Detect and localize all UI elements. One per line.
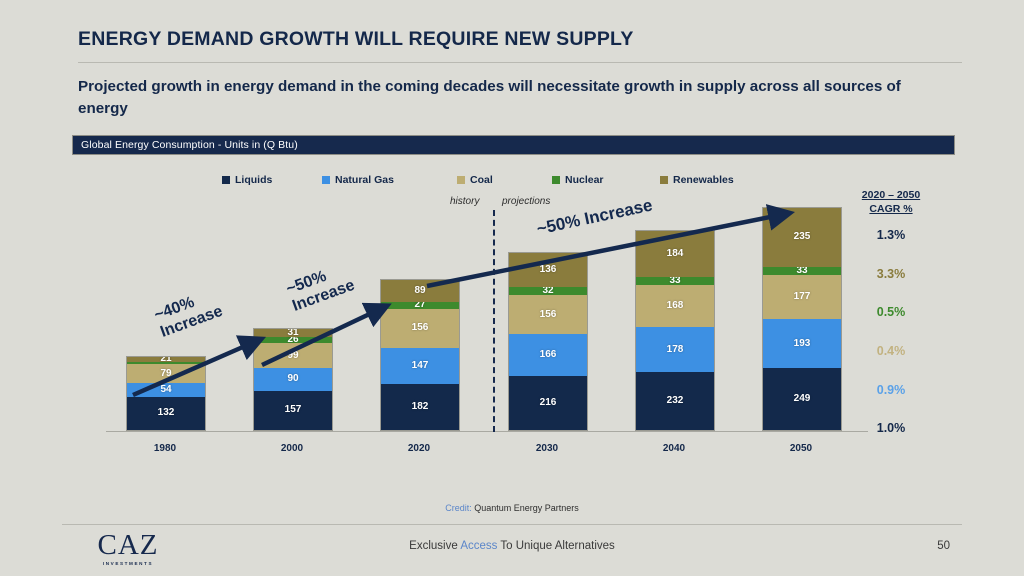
bar-value-label: 33 [796, 267, 807, 275]
bar-value-label: 132 [158, 408, 175, 418]
bar-segment-2050-natural-gas[interactable]: 193 [763, 319, 841, 367]
bar-value-label: 157 [285, 405, 302, 415]
x-axis-label-2030: 2030 [508, 443, 586, 454]
cagr-header-line2: CAGR % [869, 203, 912, 215]
chart-banner-label: Global Energy Consumption - Units in (Q … [81, 139, 298, 151]
bar-segment-2030-natural-gas[interactable]: 166 [509, 334, 587, 376]
legend-swatch-icon [222, 176, 230, 184]
bar-segment-2030-coal[interactable]: 156 [509, 295, 587, 334]
logo-subtext: INVESTMENTS [80, 561, 176, 566]
bar-segment-2050-coal[interactable]: 177 [763, 275, 841, 319]
bar-2040[interactable]: 18433168178232 [635, 230, 715, 431]
page-title: ENERGY DEMAND GROWTH WILL REQUIRE NEW SU… [78, 28, 634, 51]
bar-2050[interactable]: 23533177193249 [762, 207, 842, 431]
bar-value-label: 136 [540, 265, 557, 275]
x-axis-label-2040: 2040 [635, 443, 713, 454]
bar-2000[interactable]: 31269990157 [253, 328, 333, 431]
cagr-value-liquids: 1.0% [845, 421, 937, 435]
bar-value-label: 32 [542, 287, 553, 295]
x-axis-line [106, 431, 868, 432]
slide-root: ENERGY DEMAND GROWTH WILL REQUIRE NEW SU… [0, 0, 1024, 576]
bar-2030[interactable]: 13632156166216 [508, 252, 588, 431]
bar-segment-2050-nuclear[interactable]: 33 [763, 267, 841, 275]
bar-segment-2020-coal[interactable]: 156 [381, 309, 459, 348]
tagline-part-a: Exclusive [409, 540, 460, 552]
title-divider [78, 62, 962, 63]
bar-value-label: 168 [667, 301, 684, 311]
tagline-part-c: To Unique Alternatives [497, 540, 614, 552]
bar-segment-2040-nuclear[interactable]: 33 [636, 277, 714, 285]
legend-label: Natural Gas [335, 174, 394, 186]
bar-value-label: 147 [412, 361, 429, 371]
credit-prefix: Credit: [445, 503, 472, 513]
bar-value-label: 166 [540, 350, 557, 360]
legend-label: Nuclear [565, 174, 604, 186]
bar-segment-1980-natural-gas[interactable]: 54 [127, 383, 205, 397]
bar-value-label: 193 [794, 339, 811, 349]
chart-banner: Global Energy Consumption - Units in (Q … [72, 135, 955, 155]
bar-value-label: 31 [287, 329, 298, 337]
bar-segment-2020-renewables[interactable]: 89 [381, 280, 459, 302]
bar-value-label: 156 [540, 310, 557, 320]
chart-legend: LiquidsNatural GasCoalNuclearRenewables [222, 174, 782, 190]
cagr-value-renewables2: 3.3% [845, 267, 937, 281]
legend-swatch-icon [660, 176, 668, 184]
legend-swatch-icon [457, 176, 465, 184]
footer-divider [62, 524, 962, 525]
bar-segment-2040-renewables[interactable]: 184 [636, 231, 714, 277]
bar-segment-2030-liquids[interactable]: 216 [509, 376, 587, 430]
bar-segment-2000-liquids[interactable]: 157 [254, 391, 332, 430]
x-axis-label-1980: 1980 [126, 443, 204, 454]
legend-label: Renewables [673, 174, 734, 186]
bar-value-label: 235 [794, 232, 811, 242]
bar-segment-2000-natural-gas[interactable]: 90 [254, 368, 332, 391]
bar-value-label: 54 [160, 385, 171, 395]
bar-value-label: 90 [287, 374, 298, 384]
bar-segment-2050-renewables[interactable]: 235 [763, 208, 841, 267]
bar-segment-2040-coal[interactable]: 168 [636, 285, 714, 327]
bar-segment-2050-liquids[interactable]: 249 [763, 368, 841, 430]
cagr-header: 2020 – 2050 CAGR % [845, 188, 937, 216]
bar-value-label: 79 [160, 369, 171, 379]
bar-value-label: 89 [414, 286, 425, 296]
bar-value-label: 27 [414, 302, 425, 309]
cagr-value-renewables: 1.3% [845, 228, 937, 242]
x-axis-label-2020: 2020 [380, 443, 458, 454]
bar-value-label: 33 [669, 277, 680, 285]
bar-value-label: 184 [667, 249, 684, 259]
legend-item-natural-gas[interactable]: Natural Gas [322, 174, 394, 186]
tagline-part-b: Access [460, 540, 497, 552]
bar-segment-2030-renewables[interactable]: 136 [509, 253, 587, 287]
bar-segment-1980-coal[interactable]: 79 [127, 364, 205, 384]
legend-item-renewables[interactable]: Renewables [660, 174, 734, 186]
history-projection-divider [493, 210, 495, 432]
history-label: history [450, 196, 479, 207]
x-axis-label-2050: 2050 [762, 443, 840, 454]
bar-value-label: 182 [412, 402, 429, 412]
legend-swatch-icon [552, 176, 560, 184]
footer-tagline: Exclusive Access To Unique Alternatives [0, 540, 1024, 552]
cagr-value-coal: 0.4% [845, 344, 937, 358]
bar-value-label: 99 [287, 351, 298, 361]
legend-label: Liquids [235, 174, 272, 186]
bar-value-label: 177 [794, 292, 811, 302]
stacked-bar-chart: history projections 21795413219803126999… [78, 196, 868, 466]
legend-item-nuclear[interactable]: Nuclear [552, 174, 604, 186]
bar-2020[interactable]: 8927156147182 [380, 279, 460, 431]
page-subtitle: Projected growth in energy demand in the… [78, 76, 948, 119]
legend-item-liquids[interactable]: Liquids [222, 174, 272, 186]
bar-segment-2030-nuclear[interactable]: 32 [509, 287, 587, 295]
bar-segment-2000-renewables[interactable]: 31 [254, 329, 332, 337]
page-number: 50 [937, 540, 950, 552]
legend-label: Coal [470, 174, 493, 186]
bar-value-label: 232 [667, 396, 684, 406]
cagr-header-line1: 2020 – 2050 [862, 189, 920, 201]
legend-swatch-icon [322, 176, 330, 184]
bar-segment-2020-nuclear[interactable]: 27 [381, 302, 459, 309]
cagr-value-nuclear: 0.5% [845, 305, 937, 319]
chart-credit: Credit: Quantum Energy Partners [0, 503, 1024, 513]
legend-item-coal[interactable]: Coal [457, 174, 493, 186]
bar-segment-2040-natural-gas[interactable]: 178 [636, 327, 714, 372]
bar-value-label: 156 [412, 323, 429, 333]
bar-segment-2040-liquids[interactable]: 232 [636, 372, 714, 430]
bar-segment-2000-coal[interactable]: 99 [254, 343, 332, 368]
bar-segment-2020-liquids[interactable]: 182 [381, 384, 459, 430]
bar-segment-1980-liquids[interactable]: 132 [127, 397, 205, 430]
bar-value-label: 216 [540, 398, 557, 408]
bar-1980[interactable]: 217954132 [126, 356, 206, 431]
bar-value-label: 178 [667, 345, 684, 355]
bar-segment-2020-natural-gas[interactable]: 147 [381, 348, 459, 385]
credit-source: Quantum Energy Partners [472, 503, 579, 513]
cagr-value-natural-gas: 0.9% [845, 383, 937, 397]
x-axis-label-2000: 2000 [253, 443, 331, 454]
bar-value-label: 249 [794, 394, 811, 404]
projections-label: projections [502, 196, 550, 207]
